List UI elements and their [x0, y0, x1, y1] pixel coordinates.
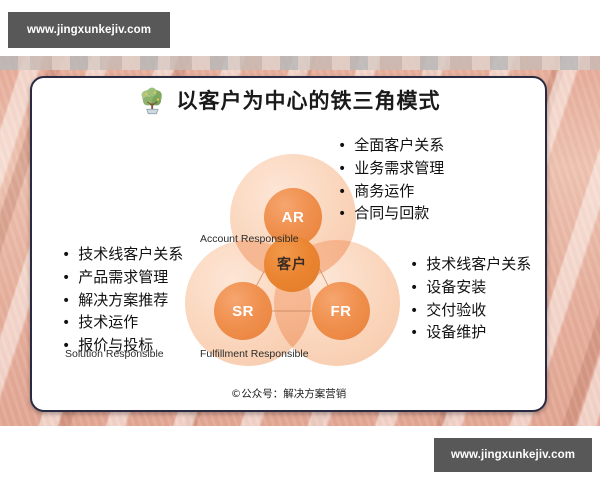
bullet-glyph: •	[338, 139, 346, 153]
node-fr-code: FR	[331, 303, 352, 320]
watermark-bottom: www.jingxunkejiv.com	[434, 438, 592, 472]
list-item-label: 技术线客户关系	[78, 243, 183, 266]
list-item: • 技术线客户关系	[410, 253, 531, 276]
bullet-glyph: •	[62, 248, 70, 262]
iron-triangle-diagram: AR SR FR 客户	[185, 154, 400, 369]
list-item-label: 设备维护	[426, 321, 486, 344]
list-item-label: 解决方案推荐	[78, 289, 168, 312]
bullet-glyph: •	[62, 316, 70, 330]
list-item: • 交付验收	[410, 299, 531, 322]
node-fr: FR	[312, 282, 370, 340]
label-fulfillment-responsible: Fulfillment Responsible	[200, 348, 309, 360]
watermark-bottom-text: www.jingxunkejiv.com	[451, 449, 575, 461]
list-item: • 设备维护	[410, 321, 531, 344]
list-item-label: 产品需求管理	[78, 266, 168, 289]
list-item: • 技术线客户关系	[62, 243, 183, 266]
bullet-glyph: •	[410, 281, 418, 295]
bullet-glyph: •	[410, 326, 418, 340]
node-sr: SR	[214, 282, 272, 340]
bullet-glyph: •	[410, 304, 418, 318]
slide-title-row: 以客户为中心的铁三角模式	[32, 86, 545, 116]
list-item-label: 设备安装	[426, 276, 486, 299]
node-sr-code: SR	[232, 303, 254, 320]
screenshot-root: www.jingxunkejiv.com 以客户为中心的铁三角模式	[0, 0, 600, 480]
watermark-top-text: www.jingxunkejiv.com	[27, 24, 151, 36]
background-top-strip	[0, 56, 600, 70]
bullet-glyph: •	[62, 294, 70, 308]
tree-icon	[137, 86, 167, 116]
list-item-label: 技术线客户关系	[426, 253, 531, 276]
node-center-label: 客户	[277, 254, 307, 274]
label-solution-responsible: Solution Responsible	[65, 348, 164, 360]
solution-responsibilities-list: • 技术线客户关系 • 产品需求管理 • 解决方案推荐 • 技术运作 • 报价与…	[62, 243, 183, 357]
watermark-top: www.jingxunkejiv.com	[8, 12, 170, 48]
list-item: • 产品需求管理	[62, 266, 183, 289]
credit-text: ©公众号：解决方案营销	[32, 386, 545, 401]
list-item: • 技术运作	[62, 311, 183, 334]
label-account-responsible: Account Responsible	[200, 233, 299, 245]
bullet-glyph: •	[410, 258, 418, 272]
slide-card: 以客户为中心的铁三角模式 • 全面客户关系 • 业务需求管理 • 商务运作 • …	[30, 76, 547, 412]
list-item: • 解决方案推荐	[62, 289, 183, 312]
fulfillment-responsibilities-list: • 技术线客户关系 • 设备安装 • 交付验收 • 设备维护	[410, 253, 531, 344]
node-ar-code: AR	[282, 209, 305, 226]
list-item: • 设备安装	[410, 276, 531, 299]
list-item-label: 技术运作	[78, 311, 138, 334]
page-title: 以客户为中心的铁三角模式	[177, 91, 441, 112]
list-item-label: 交付验收	[426, 299, 486, 322]
bullet-glyph: •	[62, 271, 70, 285]
